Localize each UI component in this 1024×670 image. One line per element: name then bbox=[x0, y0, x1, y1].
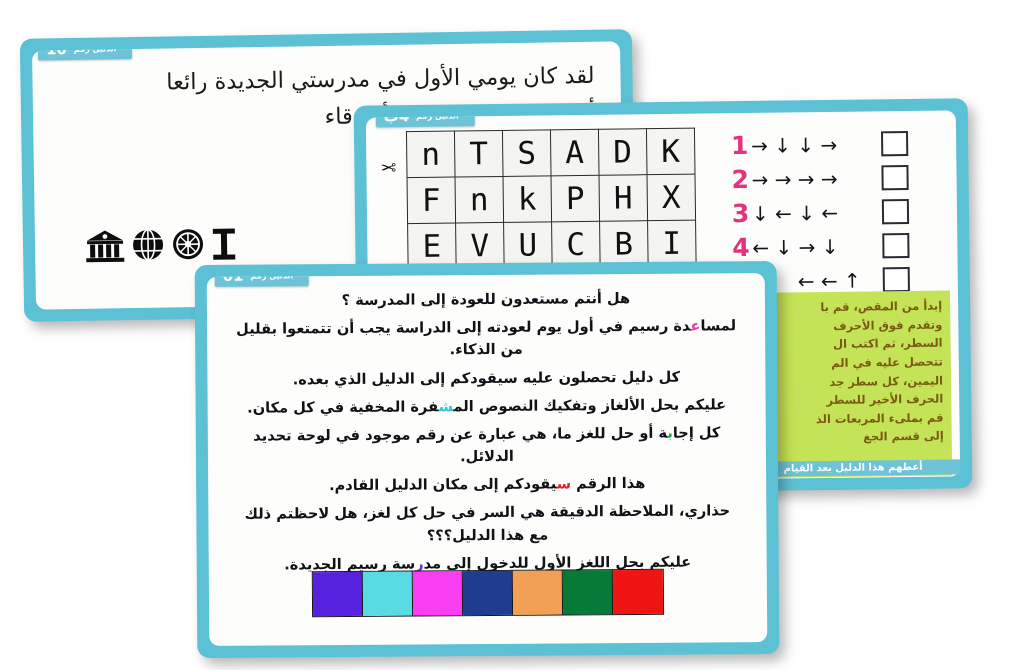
card-01-tab-number: 01 bbox=[223, 273, 244, 285]
card-01-inner: الدليل رقم 01 هل أنتم مستعدون للعودة إلى… bbox=[207, 273, 768, 646]
color-swatch[interactable] bbox=[413, 571, 463, 615]
green-panel-line: السطر، ثم اكتب ال bbox=[768, 334, 942, 355]
grid-cell[interactable]: k bbox=[503, 176, 552, 223]
card-4b-tab-label: الدليل رقم bbox=[416, 111, 459, 121]
grid-cell[interactable]: n bbox=[455, 176, 504, 223]
card-01-tab-label: الدليل رقم bbox=[250, 273, 293, 281]
color-swatch[interactable] bbox=[613, 570, 663, 614]
green-instruction-panel: إبدأ من المقص، قم با وتقدم فوق الأحرف ال… bbox=[762, 290, 952, 477]
arrow-row: 4 ← ↓ → ↓ bbox=[732, 233, 909, 260]
green-panel-line: الحرف الأخير للسطر bbox=[769, 390, 943, 411]
scissors-icon: ✂ bbox=[380, 159, 396, 178]
card-01-paragraph: لمساعدة رسيم في أول يوم لعودته إلى الدرا… bbox=[233, 315, 739, 363]
arrow-row-number: 4 bbox=[732, 235, 752, 260]
grid-cell[interactable]: B bbox=[599, 221, 648, 268]
answer-checkbox[interactable] bbox=[883, 267, 910, 292]
card-01-tab: الدليل رقم 01 bbox=[215, 273, 310, 287]
grid-cell[interactable]: P bbox=[551, 175, 600, 222]
arrow-row-number: 3 bbox=[732, 201, 752, 226]
card-01-paragraph: كل دليل تحصلون عليه سيقودكم إلى الدليل ا… bbox=[233, 366, 739, 392]
grid-cell[interactable]: T bbox=[454, 130, 503, 177]
globe-icon bbox=[131, 228, 166, 263]
arrow-row-number: 1 bbox=[731, 133, 751, 158]
grid-cell[interactable]: S bbox=[502, 130, 551, 177]
bank-building-icon bbox=[85, 229, 126, 264]
card-4b-tab: الدليل رقم 4ب bbox=[376, 110, 475, 127]
arrow-row-arrows: → → → → bbox=[751, 168, 859, 189]
letter-grid: n T S A D K F n k P H X bbox=[406, 128, 697, 271]
answer-checkbox[interactable] bbox=[882, 233, 909, 258]
letter-grid-row: F n k P H X bbox=[407, 174, 696, 224]
arrow-row: 3 ↓ ← ↓ ← bbox=[732, 199, 909, 226]
arrow-row-arrows: → ↓ ↓ → bbox=[751, 134, 859, 155]
color-swatch[interactable] bbox=[563, 570, 613, 614]
grid-cell[interactable]: H bbox=[599, 175, 648, 222]
card-01-text: هل أنتم مستعدون للعودة إلى المدرسة ؟ لمس… bbox=[207, 273, 767, 577]
card-10-tab-number: 10 bbox=[46, 41, 67, 58]
clue-card-01[interactable]: الدليل رقم 01 هل أنتم مستعدون للعودة إلى… bbox=[195, 261, 780, 658]
card-01-paragraph: هل أنتم مستعدون للعودة إلى المدرسة ؟ bbox=[233, 287, 739, 313]
green-panel-line: وتقدم فوق الأحرف bbox=[768, 315, 942, 336]
answer-checkbox[interactable] bbox=[882, 199, 909, 224]
card-01-paragraph: عليكم بحل الألغاز وتفكيك النصوص المشفرة … bbox=[234, 394, 740, 420]
card-01-paragraph: حذاري، الملاحظة الدقيقة هي السر في حل كل… bbox=[234, 501, 740, 549]
fork-utensil-icon bbox=[211, 227, 238, 261]
arrow-row-arrows: ↓ ← ↓ ← bbox=[752, 202, 860, 223]
green-panel-line: إلى قسم الجغ bbox=[770, 427, 944, 448]
color-swatch[interactable] bbox=[363, 572, 413, 616]
blue-footer-strip: أعطهم هذا الدليل بعد القيام bbox=[746, 459, 960, 477]
answer-checkbox[interactable] bbox=[881, 165, 908, 190]
color-swatch[interactable] bbox=[313, 572, 363, 616]
arrow-row: 1 → ↓ ↓ → bbox=[731, 131, 908, 158]
grid-cell[interactable]: C bbox=[551, 221, 600, 268]
card-4b-tab-number: 4ب bbox=[384, 110, 410, 125]
letter-grid-row: n T S A D K bbox=[406, 128, 695, 178]
grid-cell[interactable]: n bbox=[406, 131, 455, 178]
color-swatch[interactable] bbox=[463, 571, 513, 615]
grid-cell[interactable]: I bbox=[647, 220, 696, 267]
card-01-paragraph: كل إجابة أو حل للغز ما، هي عبارة عن رقم … bbox=[234, 422, 740, 470]
arrow-row: 2 → → → → bbox=[731, 165, 908, 192]
color-swatch[interactable] bbox=[513, 570, 563, 614]
grid-cell[interactable]: D bbox=[598, 129, 647, 176]
grid-cell[interactable]: A bbox=[550, 129, 599, 176]
grid-cell[interactable]: U bbox=[503, 222, 552, 269]
green-panel-line: إبدأ من المقص، قم با bbox=[768, 297, 942, 318]
arrow-row-arrows: ← ↓ → ↓ bbox=[752, 236, 860, 257]
card-10-tab: الدليل رقم 10 bbox=[38, 41, 133, 60]
arrow-row-number: 2 bbox=[731, 167, 751, 192]
grid-cell[interactable]: F bbox=[407, 177, 456, 224]
green-panel-line: تتحصل عليه في الم bbox=[769, 352, 943, 373]
grid-cell[interactable]: K bbox=[646, 128, 695, 175]
color-swatch-row bbox=[312, 569, 664, 617]
grid-cell[interactable]: X bbox=[647, 174, 696, 221]
green-panel-line: اليمين، كل سطر جد bbox=[769, 371, 943, 392]
screenshot-stage: الدليل رقم 10 لقد كان يومي الأول في مدرس… bbox=[0, 0, 1024, 670]
clock-wheel-icon bbox=[171, 227, 206, 262]
answer-checkbox[interactable] bbox=[881, 131, 908, 156]
green-panel-line: قم بملىء المربعات الذ bbox=[769, 408, 943, 429]
card-01-paragraph: هذا الرقم سيقودكم إلى مكان الدليل القادم… bbox=[234, 472, 740, 498]
card-10-tab-label: الدليل رقم bbox=[74, 44, 117, 54]
